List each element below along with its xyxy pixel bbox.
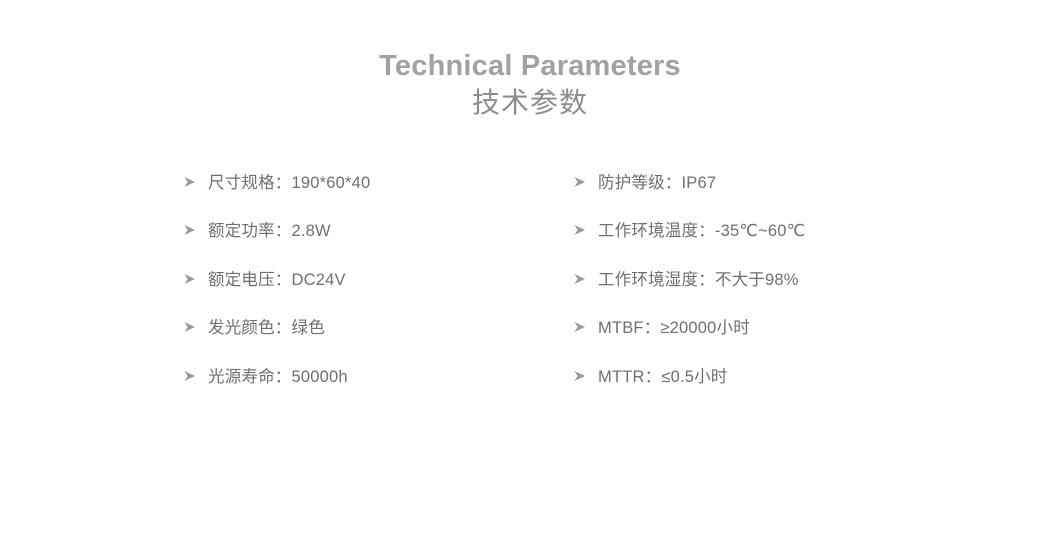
list-item-label: MTTR：≤0.5小时 xyxy=(598,367,728,387)
list-item-label: 发光颜色：绿色 xyxy=(208,318,325,338)
list-item: 防护等级：IP67 xyxy=(573,173,805,221)
list-item-label: MTBF：≥20000小时 xyxy=(598,318,750,338)
list-item: 发光颜色：绿色 xyxy=(183,318,370,366)
list-item-label: 防护等级：IP67 xyxy=(598,173,716,193)
specs-right-column: 防护等级：IP67 工作环境温度：-35℃~60℃ 工作环境湿度：不大于98% xyxy=(573,173,805,415)
arrow-right-triangle-icon xyxy=(573,369,587,383)
arrow-right-triangle-icon xyxy=(183,223,197,237)
arrow-right-triangle-icon xyxy=(573,223,587,237)
arrow-right-triangle-icon xyxy=(183,369,197,383)
arrow-right-triangle-icon xyxy=(183,175,197,189)
arrow-right-triangle-icon xyxy=(573,272,587,286)
specs-section: 尺寸规格：190*60*40 额定功率：2.8W 额定电压：DC24V xyxy=(0,173,1060,413)
list-item-label: 工作环境湿度：不大于98% xyxy=(598,270,799,290)
page-heading: Technical Parameters 技术参数 xyxy=(0,48,1060,122)
arrow-right-triangle-icon xyxy=(573,175,587,189)
specs-left-column: 尺寸规格：190*60*40 额定功率：2.8W 额定电压：DC24V xyxy=(183,173,370,415)
list-item: 光源寿命：50000h xyxy=(183,367,370,415)
list-item: 工作环境湿度：不大于98% xyxy=(573,270,805,318)
page-title-chinese: 技术参数 xyxy=(0,84,1060,122)
list-item: MTBF：≥20000小时 xyxy=(573,318,805,366)
list-item: MTTR：≤0.5小时 xyxy=(573,367,805,415)
list-item-label: 工作环境温度：-35℃~60℃ xyxy=(598,221,805,241)
list-item-label: 额定电压：DC24V xyxy=(208,270,346,290)
list-item-label: 光源寿命：50000h xyxy=(208,367,348,387)
list-item: 尺寸规格：190*60*40 xyxy=(183,173,370,221)
arrow-right-triangle-icon xyxy=(183,272,197,286)
list-item-label: 尺寸规格：190*60*40 xyxy=(208,173,370,193)
arrow-right-triangle-icon xyxy=(183,320,197,334)
list-item: 工作环境温度：-35℃~60℃ xyxy=(573,221,805,269)
list-item: 额定电压：DC24V xyxy=(183,270,370,318)
technical-parameters-page: Technical Parameters 技术参数 尺寸规格：190*60*40 xyxy=(0,0,1060,535)
list-item: 额定功率：2.8W xyxy=(183,221,370,269)
list-item-label: 额定功率：2.8W xyxy=(208,221,331,241)
page-title-english: Technical Parameters xyxy=(0,48,1060,84)
arrow-right-triangle-icon xyxy=(573,320,587,334)
